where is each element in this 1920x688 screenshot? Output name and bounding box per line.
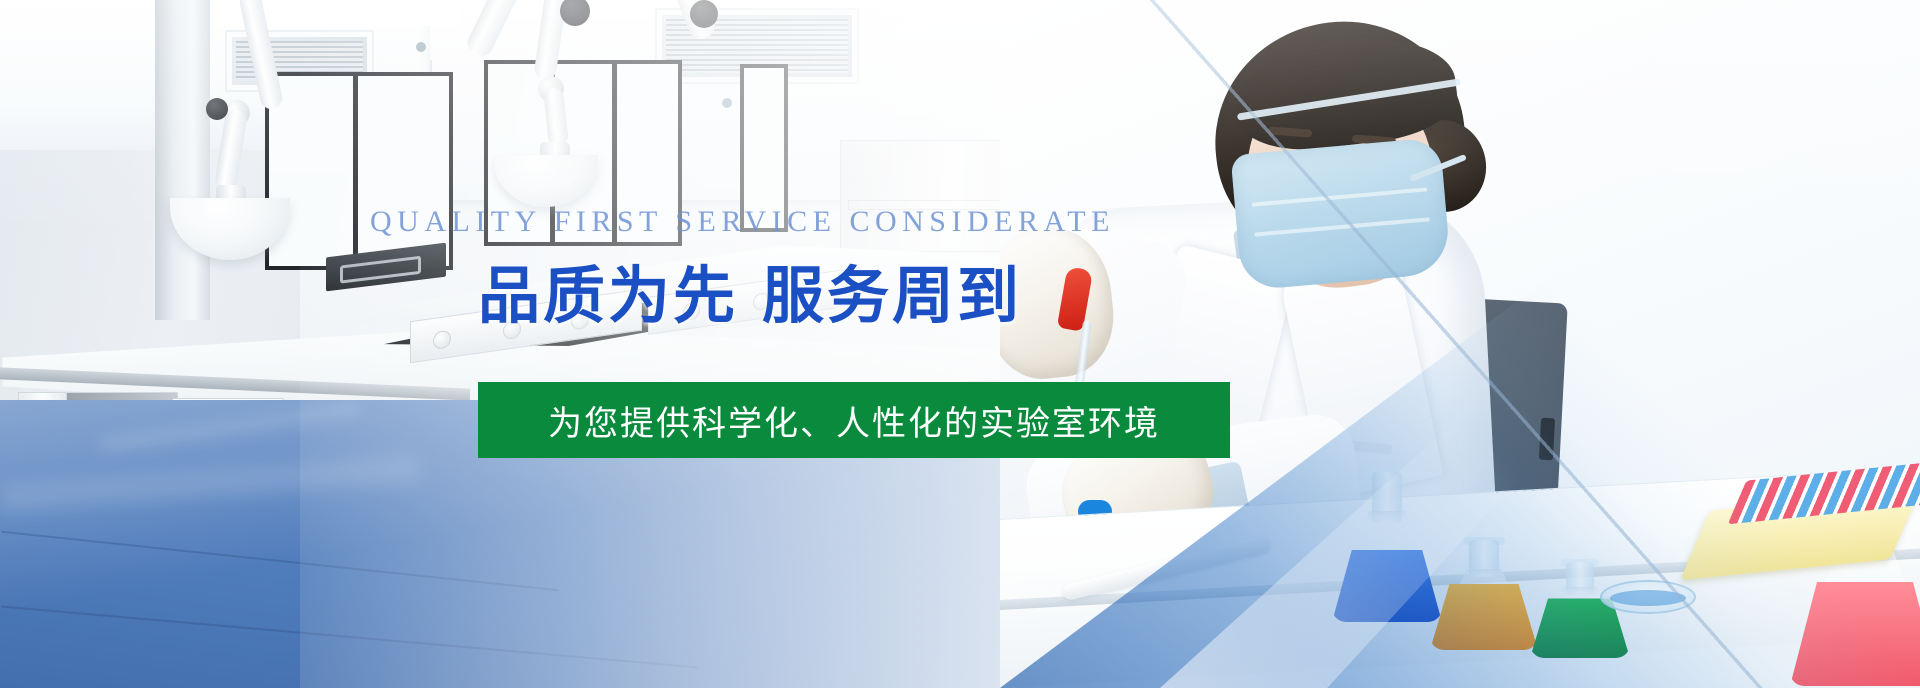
banner-copy: QUALITY FIRST SERVICE CONSIDERATE 品质为先服务… — [0, 0, 1920, 688]
headline-part-1: 品质为先 — [478, 259, 738, 332]
banner-tagline-bar: 为您提供科学化、人性化的实验室环境 — [478, 382, 1230, 458]
hero-banner: QUALITY FIRST SERVICE CONSIDERATE 品质为先服务… — [0, 0, 1920, 688]
banner-eyebrow-text: QUALITY FIRST SERVICE CONSIDERATE — [370, 205, 1030, 239]
banner-headline: 品质为先服务周到 — [0, 245, 1022, 335]
headline-part-2: 服务周到 — [762, 259, 1022, 332]
banner-tagline-text: 为您提供科学化、人性化的实验室环境 — [548, 396, 1160, 445]
